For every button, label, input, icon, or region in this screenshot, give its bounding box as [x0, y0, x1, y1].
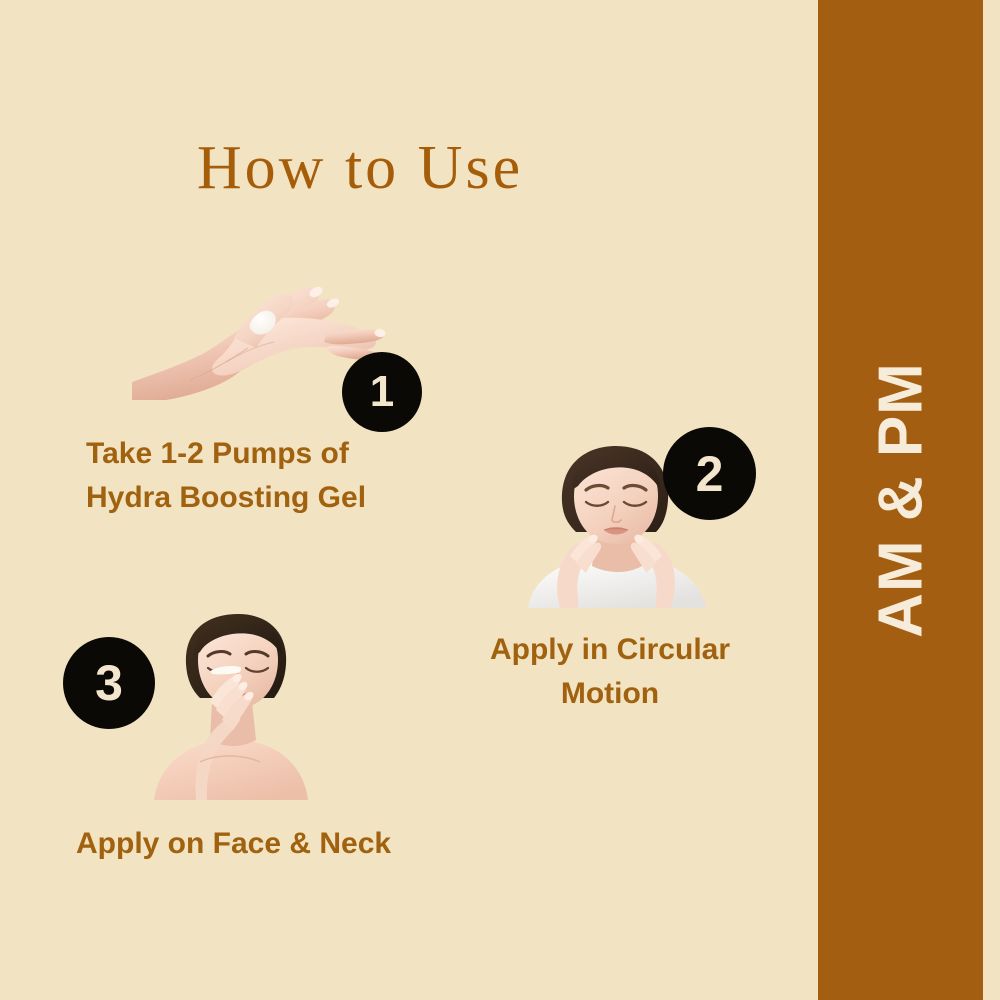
step-badge-2: 2 — [663, 427, 756, 520]
step-caption-1-line-1: Take 1-2 Pumps of — [86, 432, 466, 476]
step-caption-1: Take 1-2 Pumps of Hydra Boosting Gel — [86, 432, 466, 519]
step-caption-2-line-2: Motion — [450, 672, 770, 716]
step-caption-3: Apply on Face & Neck — [76, 822, 476, 866]
step-badge-1: 1 — [342, 352, 422, 432]
step-number-2: 2 — [696, 445, 724, 503]
step-caption-2: Apply in Circular Motion — [450, 628, 770, 715]
step-number-3: 3 — [95, 654, 123, 712]
step-caption-3-line-1: Apply on Face & Neck — [76, 822, 476, 866]
am-pm-label: AM & PM — [865, 362, 936, 638]
how-to-use-infographic: How to Use — [0, 0, 1000, 1000]
step-caption-2-line-1: Apply in Circular — [450, 628, 770, 672]
page-title: How to Use — [0, 133, 720, 204]
woman-applying-cream-to-cheek-photo — [150, 610, 310, 800]
step-number-1: 1 — [370, 367, 394, 417]
step-caption-1-line-2: Hydra Boosting Gel — [86, 476, 466, 520]
step-badge-3: 3 — [63, 637, 155, 729]
am-pm-side-band: AM & PM — [818, 0, 983, 1000]
